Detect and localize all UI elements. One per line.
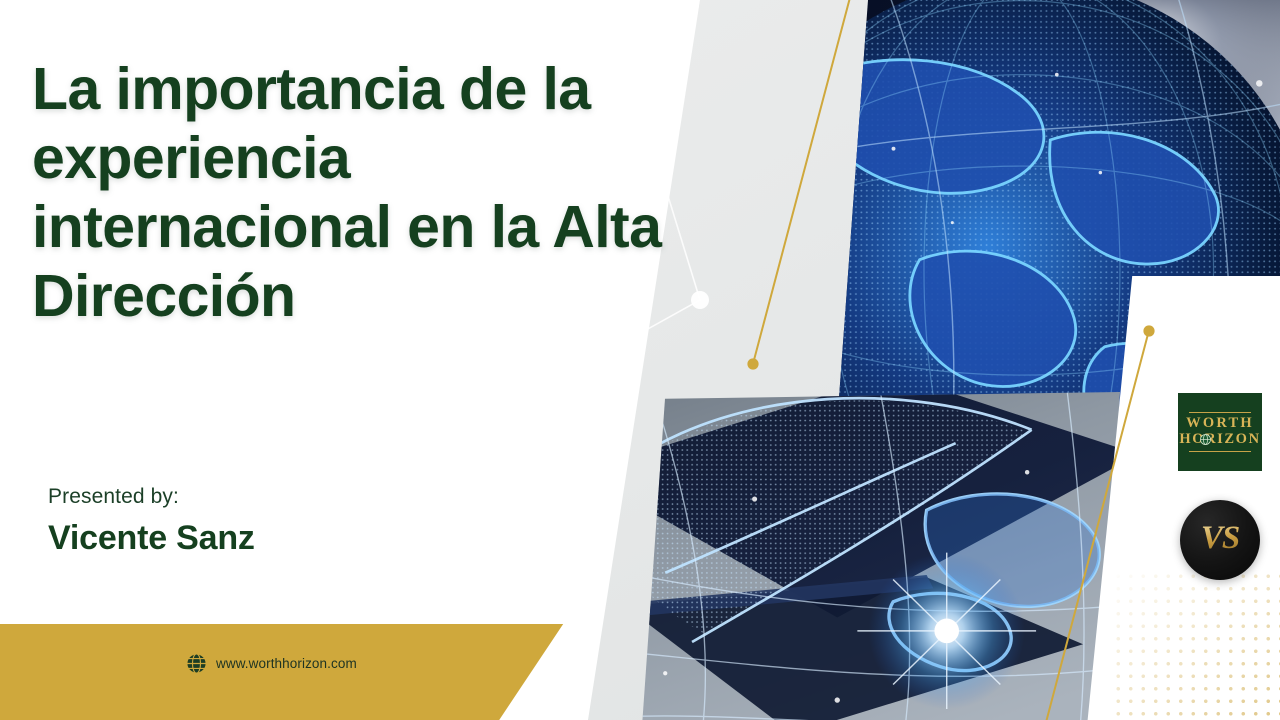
presenter-block: Presented by: Vicente Sanz [48, 485, 255, 558]
logo-word-horizon: HORIZON [1179, 432, 1260, 448]
presenter-name: Vicente Sanz [48, 519, 255, 558]
globe-icon [186, 653, 207, 674]
tablet-globe-network-image [600, 392, 1120, 720]
vs-monogram-text: VS [1201, 522, 1239, 558]
vs-monogram-badge[interactable]: VS [1180, 500, 1260, 580]
logo-word-worth: WORTH [1186, 416, 1254, 432]
logo-globe-icon [1200, 434, 1211, 445]
footer-url[interactable]: www.worthhorizon.com [216, 656, 357, 671]
logo-rule-bottom [1189, 451, 1251, 452]
title-block: La importancia de la experiencia interna… [32, 55, 732, 331]
worth-horizon-logo[interactable]: WORTH HORIZON [1178, 393, 1262, 471]
gold-dot-grid-pattern [1112, 570, 1280, 720]
footer-content: www.worthhorizon.com [186, 653, 357, 674]
logo-rule-top [1189, 412, 1251, 413]
presentation-slide: La importancia de la experiencia interna… [0, 0, 1280, 720]
page-title: La importancia de la experiencia interna… [32, 55, 692, 331]
presented-by-label: Presented by: [48, 485, 255, 509]
logo-word-horizon-text: HORIZON [1179, 431, 1260, 447]
